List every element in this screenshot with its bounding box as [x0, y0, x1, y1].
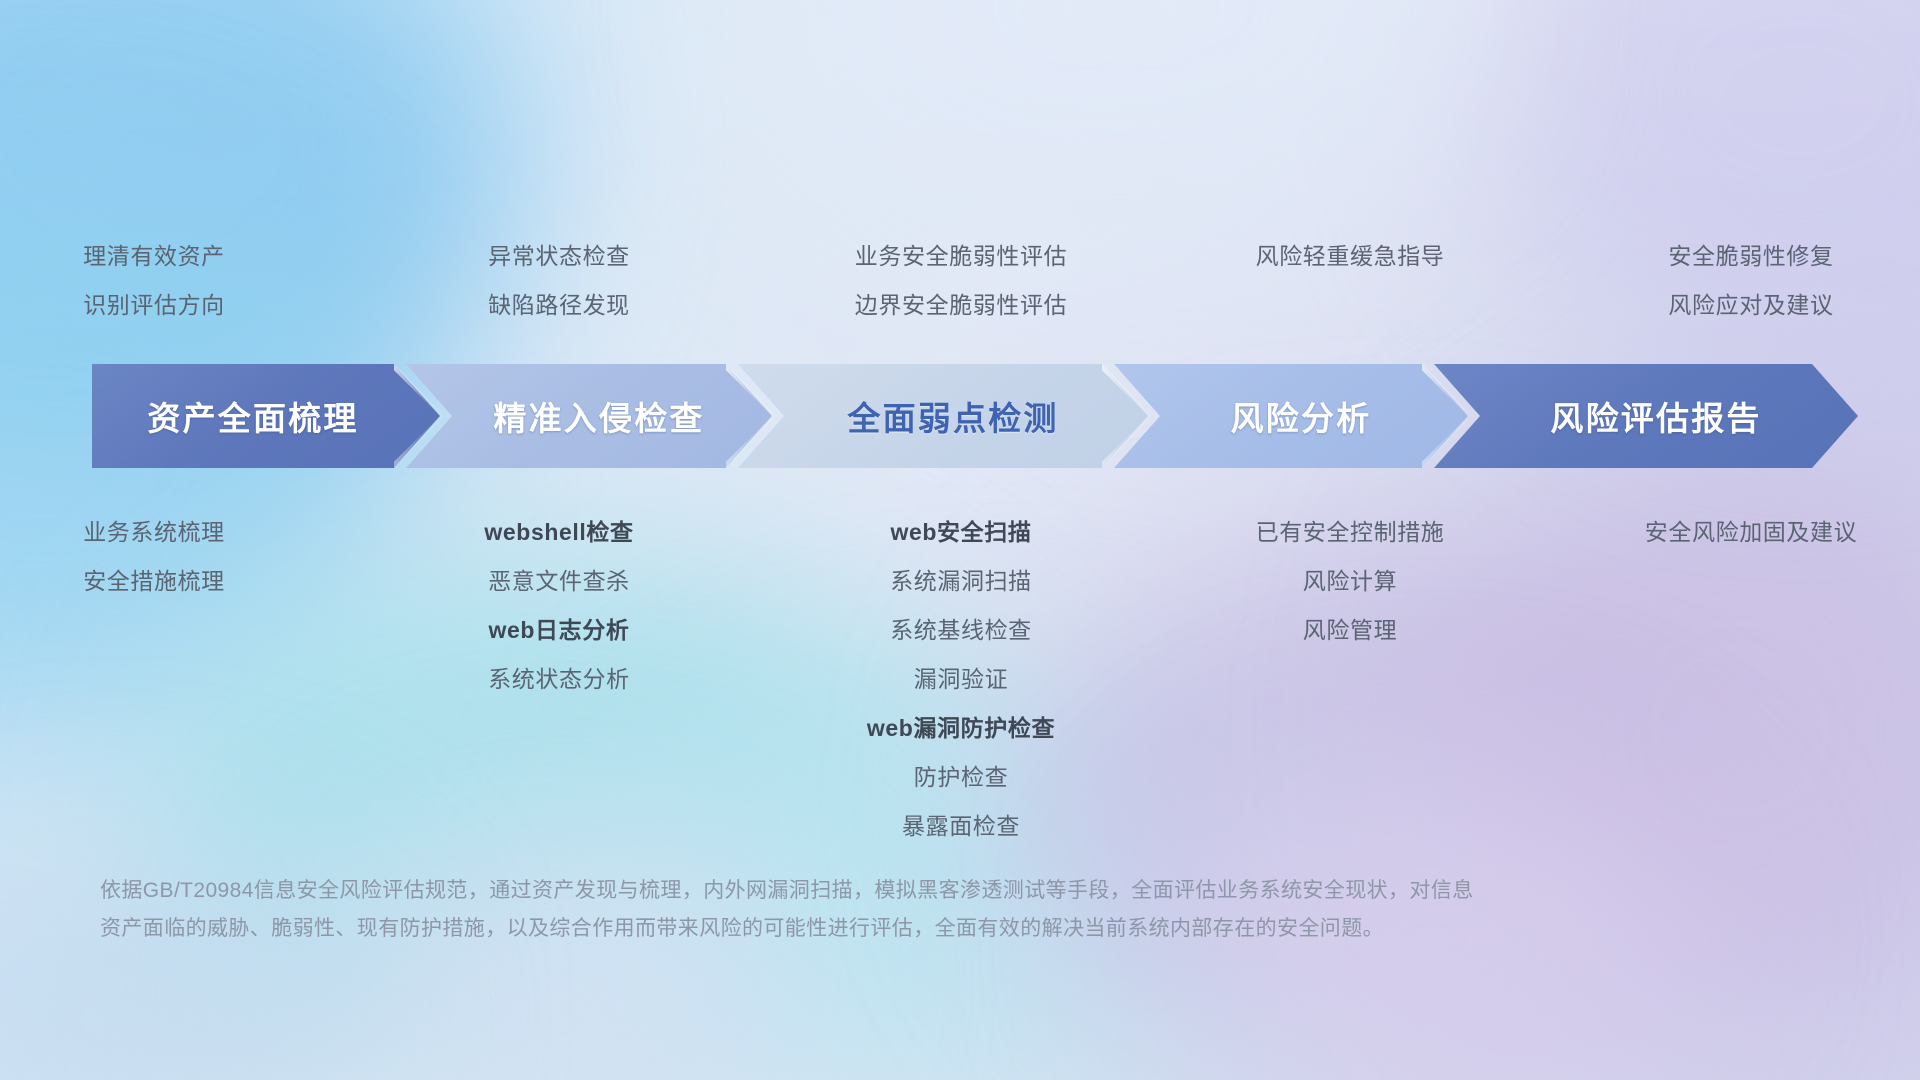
stage-tasks-row: 业务系统梳理 安全措施梳理 webshell检查 恶意文件查杀 web日志分析 …	[0, 508, 1920, 851]
outcomes-column-1: 理清有效资产 识别评估方向	[0, 232, 346, 330]
tasks-column-2: webshell检查 恶意文件查杀 web日志分析 系统状态分析	[367, 508, 751, 851]
stage-chevron-2[interactable]: 精准入侵检查	[406, 364, 772, 468]
outcome-item: 安全脆弱性修复	[1668, 232, 1833, 281]
task-item: 安全措施梳理	[83, 557, 225, 606]
stage-chevron-3[interactable]: 全面弱点检测	[738, 364, 1148, 468]
outcome-item: 理清有效资产	[83, 232, 225, 281]
task-item: 漏洞验证	[914, 655, 1008, 704]
stage-chevron-5[interactable]: 风险评估报告	[1434, 364, 1858, 468]
outcome-item: 边界安全脆弱性评估	[855, 281, 1067, 330]
task-item: 系统漏洞扫描	[890, 557, 1032, 606]
task-item: 系统基线检查	[890, 606, 1032, 655]
stage-chevron-4[interactable]: 风险分析	[1114, 364, 1468, 468]
footer-description: 依据GB/T20984信息安全风险评估规范，通过资产发现与梳理，内外网漏洞扫描，…	[100, 872, 1840, 948]
stage-title: 全面弱点检测	[738, 392, 1148, 440]
footer-line: 资产面临的威胁、脆弱性、现有防护措施，以及综合作用而带来风险的可能性进行评估，全…	[100, 910, 1840, 948]
task-item: web漏洞防护检查	[867, 704, 1055, 753]
task-item: 系统状态分析	[488, 655, 630, 704]
task-item: 防护检查	[914, 753, 1008, 802]
stage-chevron-1[interactable]: 资产全面梳理	[92, 364, 440, 468]
task-item: 风险管理	[1303, 606, 1397, 655]
outcome-item: 风险轻重缓急指导	[1256, 232, 1445, 281]
task-item: 已有安全控制措施	[1256, 508, 1445, 557]
footer-line: 依据GB/T20984信息安全风险评估规范，通过资产发现与梳理，内外网漏洞扫描，…	[100, 872, 1840, 910]
tasks-column-5: 安全风险加固及建议	[1559, 508, 1920, 851]
tasks-column-1: 业务系统梳理 安全措施梳理	[0, 508, 346, 851]
task-item: web安全扫描	[891, 508, 1032, 557]
stage-title: 精准入侵检查	[406, 392, 772, 440]
outcomes-column-2: 异常状态检查 缺陷路径发现	[367, 232, 751, 330]
process-diagram-slide: 理清有效资产 识别评估方向 异常状态检查 缺陷路径发现 业务安全脆弱性评估 边界…	[0, 0, 1920, 1080]
outcomes-column-3: 业务安全脆弱性评估 边界安全脆弱性评估	[769, 232, 1153, 330]
task-item: 业务系统梳理	[83, 508, 225, 557]
stage-title: 风险评估报告	[1434, 392, 1858, 440]
process-chevron-band: 资产全面梳理 精准入侵检查 全面弱点检测 风险分析 风险评估报告	[92, 364, 1858, 468]
outcomes-column-5: 安全脆弱性修复 风险应对及建议	[1559, 232, 1920, 330]
stage-title: 风险分析	[1114, 392, 1468, 440]
task-item: 暴露面检查	[902, 802, 1020, 851]
outcomes-column-4: 风险轻重缓急指导	[1158, 232, 1542, 330]
outcome-item: 识别评估方向	[83, 281, 225, 330]
task-item: 安全风险加固及建议	[1645, 508, 1857, 557]
stage-outcomes-row: 理清有效资产 识别评估方向 异常状态检查 缺陷路径发现 业务安全脆弱性评估 边界…	[0, 232, 1920, 330]
task-item: 恶意文件查杀	[488, 557, 630, 606]
task-item: web日志分析	[489, 606, 630, 655]
task-item: 风险计算	[1303, 557, 1397, 606]
tasks-column-3: web安全扫描 系统漏洞扫描 系统基线检查 漏洞验证 web漏洞防护检查 防护检…	[769, 508, 1153, 851]
outcome-item: 缺陷路径发现	[488, 281, 630, 330]
tasks-column-4: 已有安全控制措施 风险计算 风险管理	[1158, 508, 1542, 851]
outcome-item: 业务安全脆弱性评估	[855, 232, 1067, 281]
outcome-item: 风险应对及建议	[1668, 281, 1833, 330]
outcome-item: 异常状态检查	[488, 232, 630, 281]
task-item: webshell检查	[484, 508, 633, 557]
stage-title: 资产全面梳理	[92, 392, 440, 440]
